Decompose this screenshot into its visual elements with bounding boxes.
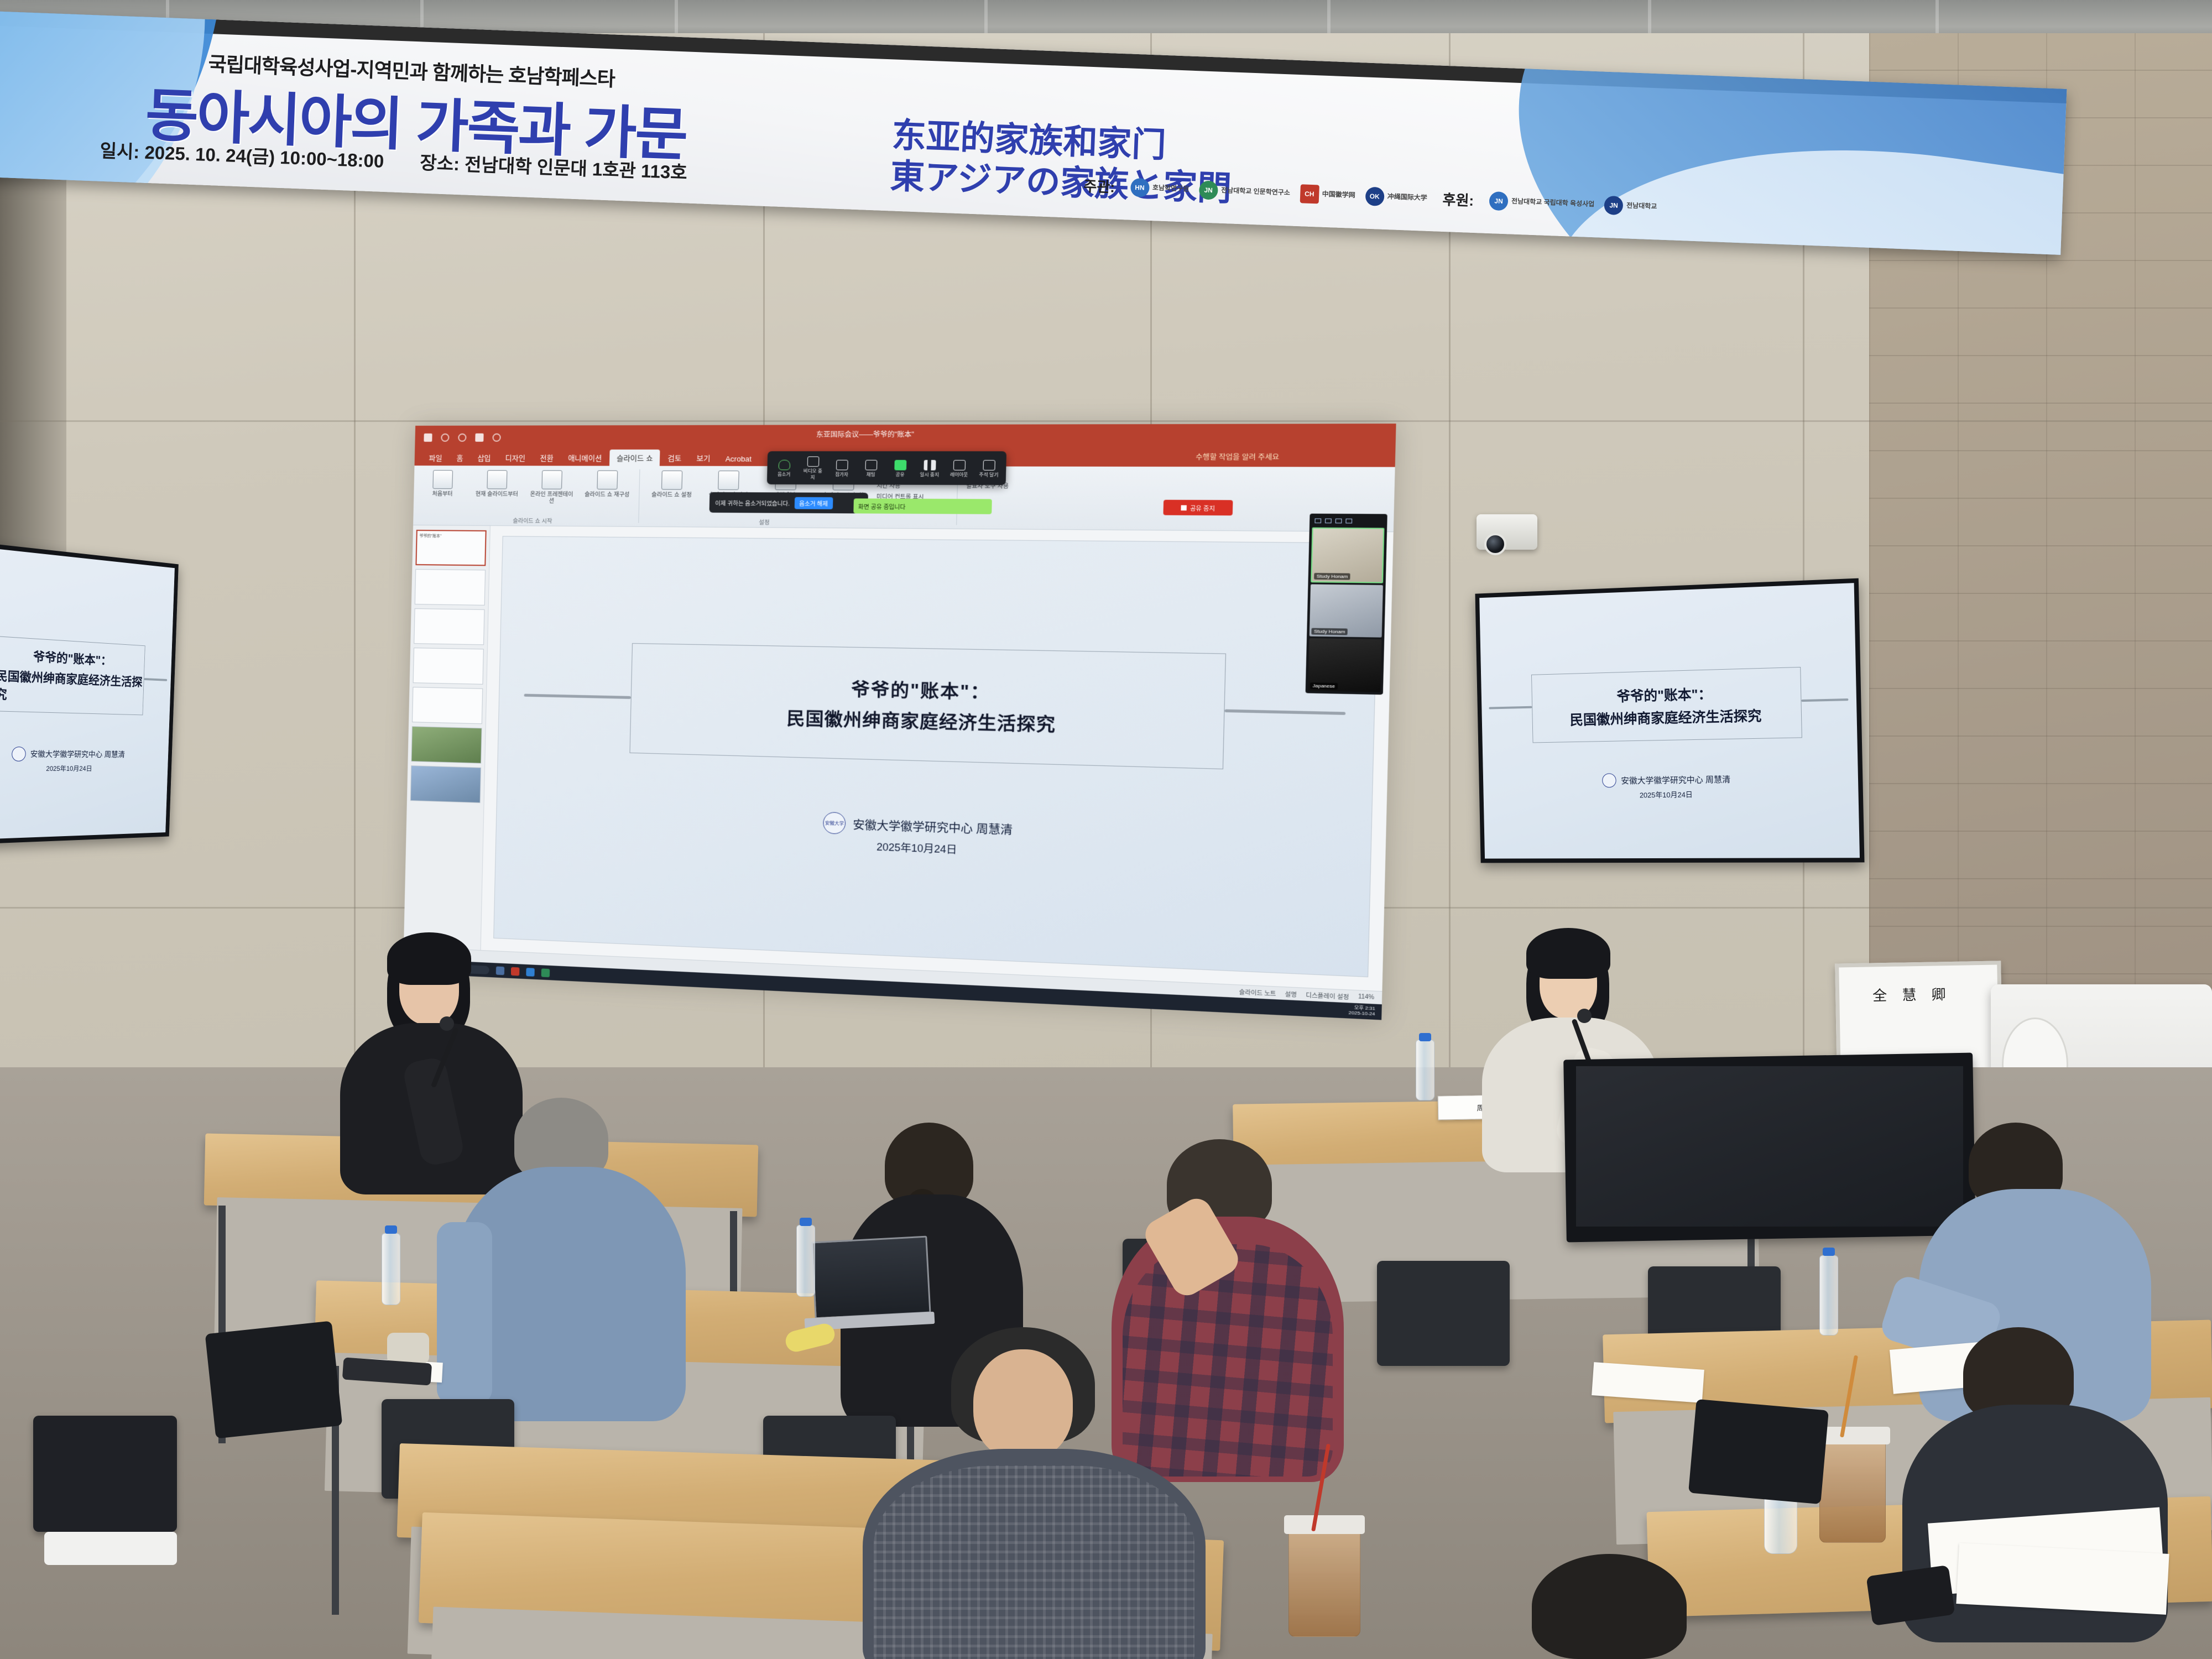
host-logo-3: CH 中国徽学网 xyxy=(1300,184,1355,205)
thumbnail-slide-1[interactable]: 1 爷爷的"账本" xyxy=(415,530,486,566)
slide-decor-rule-right xyxy=(144,678,167,681)
zoom-participants-label: 참가자 xyxy=(835,472,848,477)
cmd-setup-show[interactable]: 슬라이드 쇼 설정 xyxy=(648,469,697,499)
zoom-video-button[interactable]: 비디오 중지 xyxy=(803,455,823,481)
host-logo-2-label: 전남대학교 인문학연구소 xyxy=(1221,187,1290,196)
audience-1-arm xyxy=(437,1222,492,1405)
university-seal-icon: 安徽大学 xyxy=(823,812,846,834)
zoom-chat-label: 채팅 xyxy=(867,472,875,477)
chair-seat[interactable] xyxy=(44,1532,177,1565)
zoom-layout-button[interactable]: 레이아웃 xyxy=(949,458,969,478)
host-logo-4-label: 冲绳国际大学 xyxy=(1387,193,1427,201)
camera-lens-icon xyxy=(1484,533,1506,555)
cup-lid xyxy=(1284,1515,1365,1534)
hide-slide-icon xyxy=(718,471,739,490)
document-title: 东亚国际会议——爷爷的"账本" xyxy=(816,429,914,439)
left-display-date: 2025年10月24日 xyxy=(46,764,92,773)
participants-icon xyxy=(836,460,848,470)
wall-seam xyxy=(0,420,2212,422)
slide-canvas-area[interactable]: 爷爷的"账本"： 民国徽州绅商家庭经济生活探究 安徽大学 安徽大学徽学研究中心 … xyxy=(481,526,1394,991)
institution-seal-icon: JN xyxy=(1604,195,1624,215)
speaker-view-icon[interactable] xyxy=(1335,519,1342,524)
chair[interactable] xyxy=(1377,1261,1510,1366)
cmd-from-current-label: 현재 슬라이드부터 xyxy=(476,491,518,497)
account-icon[interactable] xyxy=(492,433,500,441)
zoom-share-label: 공유 xyxy=(896,472,905,477)
ribbon-divider xyxy=(638,469,640,523)
zoom-mute-tooltip: 이제 귀하는 음소거되었습니다. 음소거 해제 xyxy=(709,492,868,514)
microphone-head-icon xyxy=(440,1016,454,1031)
zoom-tile-1[interactable]: Study Honam xyxy=(1311,528,1384,583)
stop-icon xyxy=(1181,505,1187,510)
taskbar-explorer-icon[interactable] xyxy=(541,968,550,977)
left-display-footer: 安徽大学徽学研究中心 周慧清 2025年10月24日 xyxy=(0,746,169,774)
zoom-participant-panel[interactable]: Study Honam Study Honam Japanese xyxy=(1306,514,1387,695)
institution-seal-icon: JN xyxy=(1199,180,1218,200)
slide-date: 2025年10月24日 xyxy=(877,839,957,857)
minimize-icon[interactable] xyxy=(1314,518,1321,523)
current-slide[interactable]: 爷爷的"账本"： 民国徽州绅商家庭经济生活探究 安徽大学 安徽大学徽学研究中心 … xyxy=(493,536,1379,977)
zoom-participants-button[interactable]: 참가자 xyxy=(832,458,852,477)
ribbon-group-start: 슬라이드 쇼 시작 xyxy=(413,515,654,525)
left-display-title-line2: 民国徽州绅商家庭经济生活探究 xyxy=(0,666,144,707)
tab-insert[interactable]: 삽입 xyxy=(471,450,498,466)
zoom-stop-share-label: 공유 중지 xyxy=(1190,503,1215,512)
bottle-cap-icon xyxy=(1823,1248,1835,1256)
right-display-title-line2: 民国徽州绅商家庭经济生活探究 xyxy=(1569,705,1761,729)
zoom-tile-1-name: Study Honam xyxy=(1314,573,1350,580)
water-bottle xyxy=(382,1233,400,1305)
iced-tea-cup xyxy=(1819,1438,1886,1543)
setup-show-icon xyxy=(661,471,682,490)
zoom-annotate-button[interactable]: 주석 달기 xyxy=(979,458,999,478)
zoom-stop-share-button[interactable]: 공유 중지 xyxy=(1164,500,1233,516)
slide-title-line2: 民国徽州绅商家庭经济生活探究 xyxy=(786,704,1056,737)
left-display-title-box: 爷爷的"账本"： 民国徽州绅商家庭经济生活探究 xyxy=(0,636,145,715)
presenter-hair-top xyxy=(1526,928,1610,979)
audience-3-plaid-pattern xyxy=(1123,1244,1333,1477)
slide-decor-rule-left xyxy=(1489,706,1532,709)
support-logo-2: JN 전남대학교 xyxy=(1604,195,1657,216)
share-screen-icon xyxy=(894,460,906,470)
tab-view[interactable]: 보기 xyxy=(690,450,718,466)
right-display-affiliation: 安徽大学徽学研究中心 周慧清 xyxy=(1621,773,1730,786)
thumbnail-slide-7[interactable]: 7 xyxy=(410,765,481,803)
right-display-footer: 安徽大学徽学研究中心 周慧清 2025年10月24日 xyxy=(1483,770,1859,801)
zoom-pause-label: 일시 중지 xyxy=(920,472,939,477)
zoom-panel-controls[interactable] xyxy=(1312,516,1385,526)
left-display-screen: 爷爷的"账本"： 民国徽州绅商家庭经济生活探究 安徽大学徽学研究中心 周慧清 2… xyxy=(0,546,175,840)
maximize-icon[interactable] xyxy=(1325,519,1332,524)
annotate-icon xyxy=(983,460,995,470)
present-online-icon xyxy=(541,470,562,489)
slide-author-block: 安徽大学 安徽大学徽学研究中心 周慧清 2025年10月24日 xyxy=(496,801,1371,872)
custom-show-icon xyxy=(597,471,618,490)
camera-icon xyxy=(807,456,819,467)
microphone-head-icon xyxy=(1577,1009,1592,1023)
institution-seal-icon: HN xyxy=(1130,178,1149,197)
left-display-affiliation: 安徽大学徽学研究中心 周慧清 xyxy=(30,748,126,760)
zoom-sharing-banner: 화면 공유 중입니다 xyxy=(853,498,992,514)
paper-stack xyxy=(1956,1543,2169,1615)
play-from-start-icon xyxy=(432,470,453,489)
moderator-hair-top xyxy=(387,932,471,985)
water-bottle xyxy=(1416,1040,1434,1100)
slide-title-line1: 爷爷的"账本"： xyxy=(851,675,990,703)
cmd-custom-show-label: 슬라이드 쇼 재구성 xyxy=(585,492,630,498)
zoom-annotate-label: 주석 달기 xyxy=(979,472,998,477)
tissue-pack xyxy=(387,1333,429,1364)
zoom-layout-label: 레이아웃 xyxy=(950,472,968,477)
audience-6-hair xyxy=(1532,1554,1687,1659)
university-seal-icon xyxy=(11,747,25,761)
right-display-title-box: 爷爷的"账本"： 民国徽州绅商家庭经济生活探究 xyxy=(1531,667,1802,743)
bottle-cap-icon xyxy=(385,1225,397,1234)
redo-icon[interactable] xyxy=(458,433,466,441)
zoom-tile-2-name: Study Honam xyxy=(1311,628,1348,635)
water-bottle xyxy=(1819,1255,1838,1335)
zoom-tile-3-name: Japanese xyxy=(1310,682,1338,690)
right-display-title-line1: 爷爷的"账本"： xyxy=(1616,683,1712,705)
thumbnail-slide-6[interactable]: 6 xyxy=(411,726,482,764)
thumbnail-slide-4[interactable]: 4 xyxy=(413,648,484,685)
university-seal-icon xyxy=(1602,773,1616,787)
projection-screen: 东亚国际会议——爷爷的"账本" 파일 홈 삽입 디자인 전환 애니메이션 슬라이… xyxy=(403,424,1396,1020)
cmd-setup-show-label: 슬라이드 쇼 설정 xyxy=(651,492,692,499)
zoom-tile-2[interactable]: Study Honam xyxy=(1310,584,1383,638)
whiteboard-text: 全 慧 卿 xyxy=(1872,983,1952,1005)
audience-5-head xyxy=(973,1349,1073,1460)
left-display-title-line1: 爷爷的"账本"： xyxy=(33,647,112,669)
tab-design[interactable]: 디자인 xyxy=(498,450,532,466)
cmd-from-current[interactable]: 현재 슬라이드부터 xyxy=(473,469,521,498)
zoom-mute-label: 음소거 xyxy=(778,472,791,477)
slide-decor-rule-right xyxy=(1225,709,1346,714)
host-logo-4: OK 冲绳国际大学 xyxy=(1365,186,1427,207)
tab-file[interactable]: 파일 xyxy=(422,450,448,466)
ribbon-group-setup: 설정 xyxy=(654,517,877,527)
slide-thumbnail-rail[interactable]: 1 爷爷的"账本" 2 3 4 5 6 7 xyxy=(404,525,491,950)
institution-seal-icon: CH xyxy=(1300,184,1319,204)
present-icon[interactable] xyxy=(475,433,483,441)
zoom-tile-3[interactable]: Japanese xyxy=(1308,638,1381,692)
slide-decor-rule-right xyxy=(1802,698,1849,702)
tab-review[interactable]: 검토 xyxy=(661,450,689,466)
desk-monitor-screen xyxy=(1576,1066,1963,1227)
support-logo-1-label: 전남대학교 국립대학 육성사업 xyxy=(1511,198,1595,208)
clock-date: 2025-10-24 xyxy=(1349,1010,1375,1016)
bottle-cap-icon xyxy=(1419,1033,1431,1041)
conference-room-scene: 국립대학육성사업-지역민과 함께하는 호남학페스타 동아시아의 가족과 가문 东… xyxy=(0,0,2212,1659)
tab-slideshow[interactable]: 슬라이드 쇼 xyxy=(609,450,660,466)
institution-seal-icon: JN xyxy=(1489,191,1508,211)
status-zoom-level[interactable]: 114% xyxy=(1358,994,1374,1001)
tell-me-box[interactable]: 수행할 작업을 알려 주세요 xyxy=(1196,452,1279,462)
host-logo-1-label: 호남학연구원 xyxy=(1152,184,1190,192)
host-logo-3-label: 中国徽学网 xyxy=(1322,191,1355,199)
support-label: 후원: xyxy=(1442,189,1474,210)
tab-transitions[interactable]: 전환 xyxy=(533,450,560,466)
right-display: 爷爷的"账本"： 民国徽州绅商家庭经济生活探究 安徽大学徽学研究中心 周慧清 2… xyxy=(1475,578,1865,863)
status-display-settings[interactable]: 디스플레이 설정 xyxy=(1306,990,1349,1001)
support-logo-1: JN 전남대학교 국립대학 육성사업 xyxy=(1489,191,1594,214)
bag xyxy=(1688,1399,1829,1504)
audience-5-check-pattern xyxy=(874,1465,1194,1659)
thumbnail-slide-3[interactable]: 3 xyxy=(414,608,484,645)
save-icon[interactable] xyxy=(424,433,432,441)
taskbar-app-icon[interactable] xyxy=(496,966,504,975)
slide-author-row: 安徽大学 安徽大学徽学研究中心 周慧清 xyxy=(823,812,1013,840)
host-label: 주관: xyxy=(1083,175,1115,197)
left-display-author-row: 安徽大学徽学研究中心 周慧清 xyxy=(11,747,125,761)
zoom-pause-button[interactable]: 일시 중지 xyxy=(920,458,940,478)
taskbar-zoom-icon[interactable] xyxy=(526,968,535,977)
slide-decor-rule-left xyxy=(524,693,630,698)
thumbnail-caption: 爷爷的"账本" xyxy=(419,534,441,538)
gallery-view-icon[interactable] xyxy=(1345,519,1352,524)
status-comments[interactable]: 설명 xyxy=(1285,989,1297,999)
play-from-current-icon xyxy=(487,470,507,489)
taskbar-clock[interactable]: 오후 2:31 2025-10-24 xyxy=(1349,1005,1375,1017)
zoom-chat-button[interactable]: 채팅 xyxy=(861,458,881,477)
editor-body: 1 爷爷的"账本" 2 3 4 5 6 7 爷爷的"账本"： 民国徽州绅商家庭经… xyxy=(404,525,1394,991)
zoom-sharing-text: 화면 공유 중입니다 xyxy=(858,502,906,510)
powerpoint-titlebar: 东亚国际会议——爷爷的"账本" xyxy=(415,424,1396,449)
tab-acrobat[interactable]: Acrobat xyxy=(718,452,759,466)
right-display-screen: 爷爷的"账本"： 民国徽州绅商家庭经济生活探究 安徽大学徽学研究中心 周慧清 2… xyxy=(1479,583,1860,858)
host-logo-1: HN 호남학연구원 xyxy=(1130,178,1189,199)
cmd-present-online-label: 온라인 프레젠테이션 xyxy=(530,492,573,504)
pause-icon xyxy=(924,460,936,470)
thumbnail-slide-2[interactable]: 2 xyxy=(415,569,486,606)
thumbnail-slide-5[interactable]: 5 xyxy=(412,687,483,724)
left-display: 爷爷的"账本"： 民国徽州绅商家庭经济生活探究 安徽大学徽学研究中心 周慧清 2… xyxy=(0,540,179,845)
cmd-from-beginning[interactable]: 처음부터 xyxy=(419,469,466,498)
microphone-icon xyxy=(778,460,790,470)
banner-venue: 장소: 전남대학 인문대 1호관 113호 xyxy=(420,152,688,182)
tab-home[interactable]: 홈 xyxy=(450,450,470,466)
cmd-from-beginning-label: 처음부터 xyxy=(432,491,453,497)
slide-title-placeholder[interactable]: 爷爷的"账本"： 民国徽州绅商家庭经济生活探究 xyxy=(629,643,1226,769)
water-bottle xyxy=(796,1225,815,1297)
ceiling-camera xyxy=(1477,514,1537,550)
bottle-cap-icon xyxy=(800,1218,812,1226)
zoom-mute-tooltip-text: 이제 귀하는 음소거되었습니다. xyxy=(715,498,790,507)
status-notes[interactable]: 슬라이드 노트 xyxy=(1239,987,1276,998)
slide-affiliation: 安徽大学徽学研究中心 周慧清 xyxy=(853,816,1013,838)
support-logo-2-label: 전남대학교 xyxy=(1626,202,1657,211)
zoom-unmute-button[interactable]: 음소거 해제 xyxy=(794,497,833,509)
layout-icon xyxy=(953,460,965,470)
right-display-author-row: 安徽大学徽学研究中心 周慧清 xyxy=(1602,771,1730,787)
taskbar-powerpoint-icon[interactable] xyxy=(511,967,520,975)
host-logo-2: JN 전남대학교 인문학연구소 xyxy=(1199,180,1291,202)
zoom-mute-button[interactable]: 음소거 xyxy=(774,458,794,477)
right-display-date: 2025年10月24日 xyxy=(1640,789,1693,800)
laptop-screen[interactable] xyxy=(811,1236,931,1319)
chair[interactable] xyxy=(33,1416,177,1532)
cmd-present-online[interactable]: 온라인 프레젠테이션 xyxy=(528,469,576,505)
zoom-video-label: 비디오 중지 xyxy=(804,468,822,480)
institution-seal-icon: OK xyxy=(1365,186,1384,206)
tab-animations[interactable]: 애니메이션 xyxy=(561,450,609,466)
backpack xyxy=(205,1321,343,1438)
iced-coffee-cup xyxy=(1288,1526,1360,1637)
cmd-custom-show[interactable]: 슬라이드 쇼 재구성 xyxy=(583,469,632,498)
undo-icon[interactable] xyxy=(441,433,449,441)
zoom-meeting-toolbar[interactable]: 음소거 비디오 중지 참가자 채팅 공유 일시 중지 xyxy=(767,451,1006,485)
zoom-share-button[interactable]: 공유 xyxy=(890,458,911,478)
chat-icon xyxy=(865,460,877,470)
